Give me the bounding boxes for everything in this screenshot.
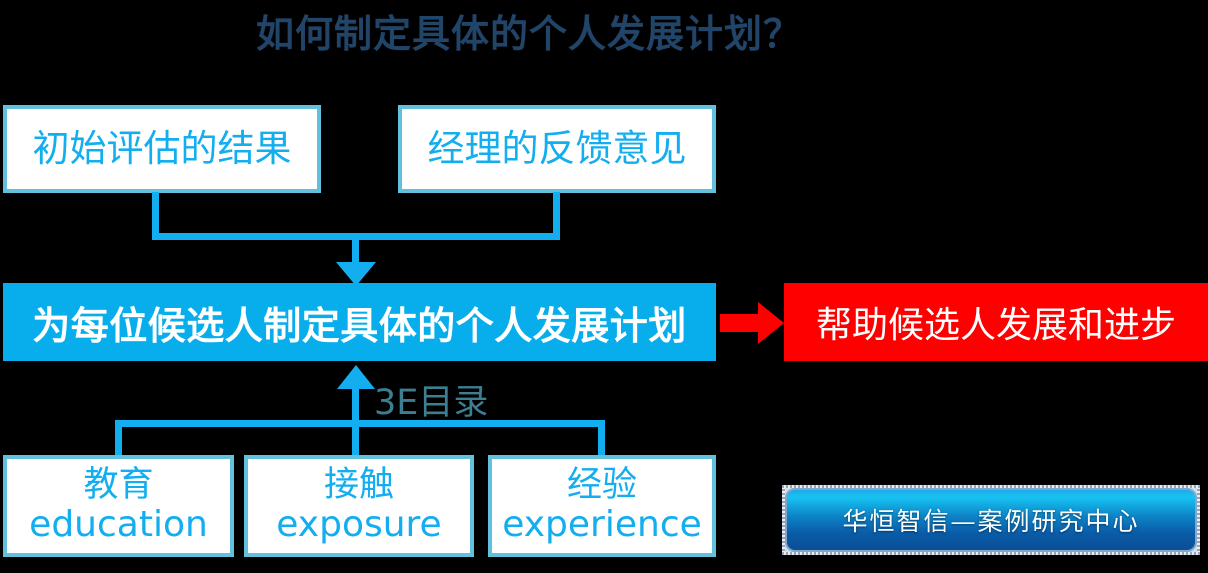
three-e-box-label-en: experience bbox=[502, 505, 702, 545]
outcome-box[interactable]: 帮助候选人发展和进步 bbox=[784, 283, 1208, 361]
connector-line-3e-drop-3 bbox=[598, 420, 605, 458]
three-e-box-label-cn: 经验 bbox=[567, 466, 637, 505]
three-e-box-label-en: exposure bbox=[276, 505, 441, 545]
slide-canvas: 如何制定具体的个人发展计划？ 初始评估的结果 经理的反馈意见 为每位候选人制定具… bbox=[0, 0, 1208, 573]
arrow-right-icon bbox=[720, 302, 784, 344]
three-e-box-label-en: education bbox=[29, 505, 208, 545]
watermark-badge: 华恒智信—案例研究中心 bbox=[782, 485, 1200, 555]
main-process-label: 为每位候选人制定具体的个人发展计划 bbox=[32, 295, 687, 350]
three-e-catalog-label: 3E目录 bbox=[374, 374, 488, 425]
connector-line-3e-drop-2 bbox=[352, 420, 359, 458]
input-box-label: 初始评估的结果 bbox=[33, 128, 292, 169]
three-e-box-label-cn: 接触 bbox=[324, 466, 394, 505]
watermark-inner: 华恒智信—案例研究中心 bbox=[785, 488, 1197, 552]
connector-line-3e-horizontal bbox=[115, 420, 605, 427]
connector-line-3e-stem bbox=[352, 382, 359, 424]
three-e-box-label-cn: 教育 bbox=[83, 466, 153, 505]
three-e-box-education[interactable]: 教育 education bbox=[3, 455, 234, 557]
connector-line-3e-drop-1 bbox=[115, 420, 122, 458]
watermark-label: 华恒智信—案例研究中心 bbox=[842, 502, 1139, 538]
page-title: 如何制定具体的个人发展计划？ bbox=[0, 8, 1208, 60]
three-e-box-experience[interactable]: 经验 experience bbox=[488, 455, 716, 557]
main-process-bar[interactable]: 为每位候选人制定具体的个人发展计划 bbox=[3, 283, 716, 361]
three-e-box-exposure[interactable]: 接触 exposure bbox=[244, 455, 474, 557]
input-box-manager-feedback[interactable]: 经理的反馈意见 bbox=[398, 105, 716, 193]
outcome-label: 帮助候选人发展和进步 bbox=[816, 296, 1176, 348]
input-box-initial-assessment[interactable]: 初始评估的结果 bbox=[3, 105, 321, 193]
input-box-label: 经理的反馈意见 bbox=[428, 128, 687, 169]
